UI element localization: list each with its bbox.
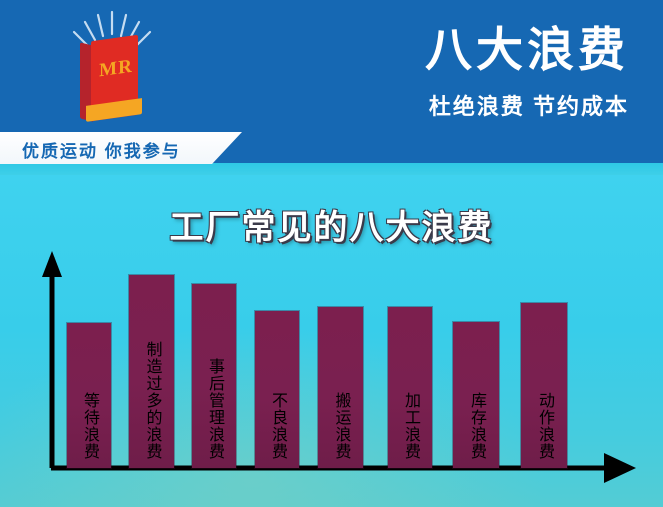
bar-8-labelbox: 动作浪费 bbox=[521, 392, 567, 460]
bar-3-labelbox: 事后管理浪费 bbox=[192, 358, 236, 460]
header-bottom-strip bbox=[0, 163, 663, 175]
bar-6: 加工浪费 bbox=[388, 307, 432, 468]
bar-2-label: 制造过多的浪费 bbox=[140, 341, 164, 460]
bar-7: 库存浪费 bbox=[453, 322, 499, 468]
bar-4-label: 不良浪费 bbox=[265, 392, 289, 460]
y-axis-arrow bbox=[42, 251, 62, 277]
brand-logo: MR bbox=[52, 8, 172, 128]
bar-4: 不良浪费 bbox=[255, 311, 299, 468]
bar-3-label: 事后管理浪费 bbox=[202, 358, 226, 460]
x-axis-arrow bbox=[604, 453, 636, 483]
infographic-poster: MR 八大浪费 杜绝浪费 节约成本 优质运动 你我参与 工厂常见的八大浪费 等待… bbox=[0, 0, 663, 507]
book-icon: MR bbox=[80, 38, 142, 120]
bar-5-label: 搬运浪费 bbox=[329, 392, 353, 460]
bar-8: 动作浪费 bbox=[521, 303, 567, 468]
bar-5-labelbox: 搬运浪费 bbox=[318, 392, 363, 460]
bar-3: 事后管理浪费 bbox=[192, 284, 236, 468]
bar-6-labelbox: 加工浪费 bbox=[388, 392, 432, 460]
poster-title: 八大浪费 bbox=[425, 26, 629, 73]
bar-1-label: 等待浪费 bbox=[77, 392, 101, 460]
bar-4-labelbox: 不良浪费 bbox=[255, 392, 299, 460]
ribbon-banner: 优质运动 你我参与 bbox=[0, 132, 242, 164]
bar-1: 等待浪费 bbox=[67, 323, 111, 468]
bar-5: 搬运浪费 bbox=[318, 307, 363, 468]
poster-subtitle: 杜绝浪费 节约成本 bbox=[429, 96, 629, 118]
bar-2-labelbox: 制造过多的浪费 bbox=[129, 341, 174, 460]
bar-8-label: 动作浪费 bbox=[532, 392, 556, 460]
bar-7-labelbox: 库存浪费 bbox=[453, 392, 499, 460]
bar-1-labelbox: 等待浪费 bbox=[67, 392, 111, 460]
bar-2: 制造过多的浪费 bbox=[129, 275, 174, 468]
ribbon-label: 优质运动 你我参与 bbox=[22, 137, 181, 162]
chart-area: 工厂常见的八大浪费 等待浪费 制造过多的浪费 事后管理浪费 bbox=[0, 175, 663, 507]
bar-7-label: 库存浪费 bbox=[464, 392, 488, 460]
bar-6-label: 加工浪费 bbox=[398, 392, 422, 460]
